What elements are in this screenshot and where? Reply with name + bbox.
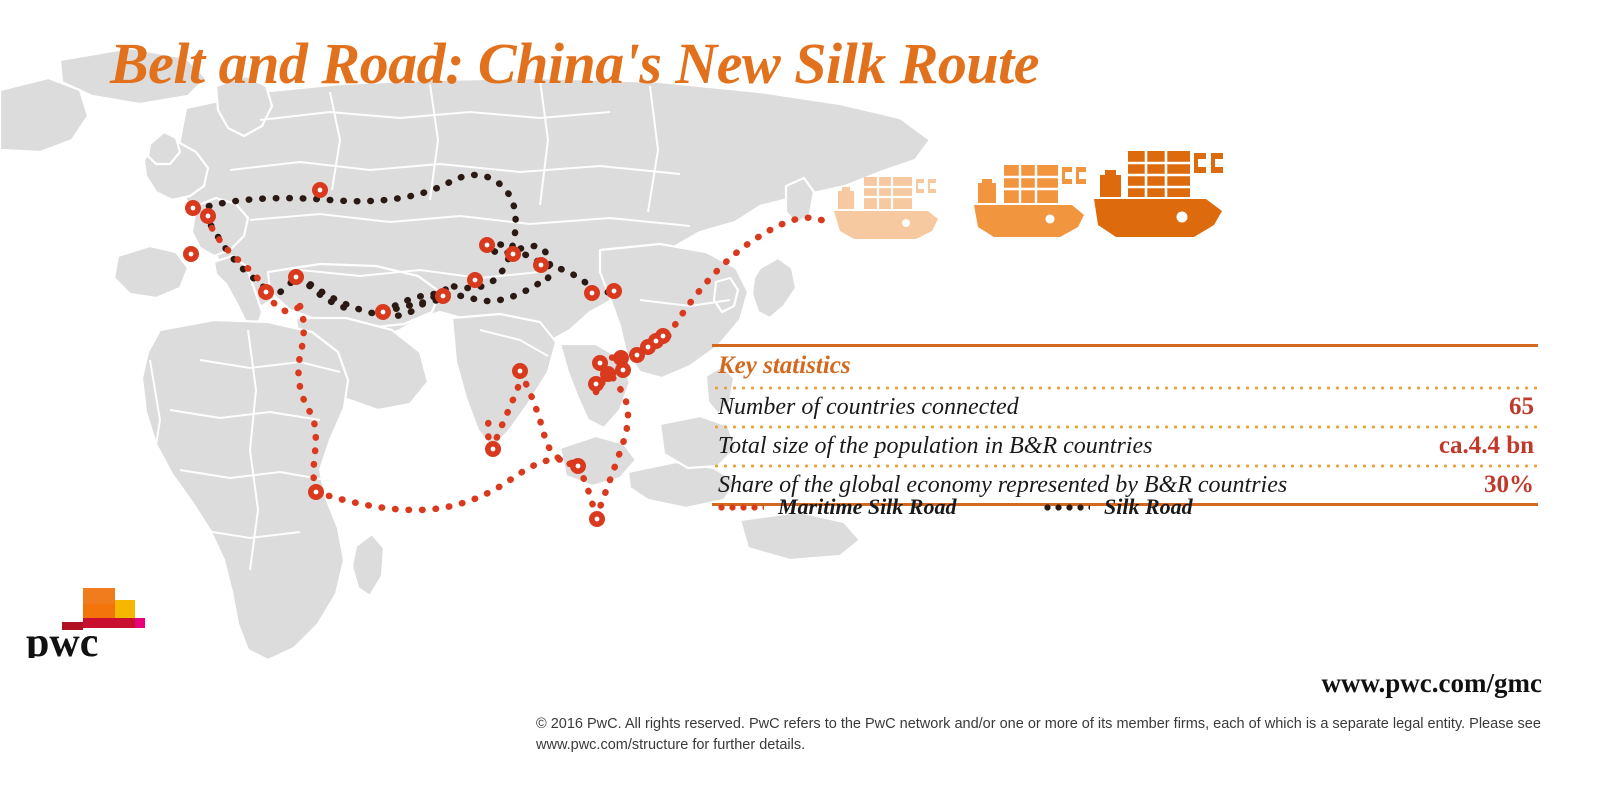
key-statistics-panel: Key statistics Number of countries conne… <box>712 344 1538 506</box>
stat-label: Total size of the population in B&R coun… <box>718 433 1152 460</box>
stat-label: Number of countries connected <box>718 394 1019 421</box>
legend-item-maritime: Maritime Silk Road <box>716 494 956 520</box>
ship-large-icon <box>1094 151 1223 237</box>
legend-label: Silk Road <box>1104 494 1193 520</box>
table-row: Number of countries connected 65 <box>712 390 1538 425</box>
website-url[interactable]: www.pwc.com/gmc <box>1322 668 1542 699</box>
map-legend: Maritime Silk Road Silk Road <box>712 494 1542 524</box>
ship-medium-icon <box>974 165 1086 237</box>
page-title: Belt and Road: China's New Silk Route <box>110 30 1039 97</box>
infographic-canvas: Belt and Road: China's New Silk Route <box>0 0 1600 800</box>
pwc-wordmark: pwc <box>26 620 98 658</box>
table-row: Total size of the population in B&R coun… <box>712 429 1538 464</box>
legal-disclaimer: © 2016 PwC. All rights reserved. PwC ref… <box>536 714 1546 756</box>
maritime-route-swatch-icon <box>716 504 764 511</box>
stat-value: ca.4.4 bn <box>1419 432 1534 460</box>
maritime-east-africa-leg <box>316 459 578 510</box>
legend-label: Maritime Silk Road <box>778 494 956 520</box>
ship-small-icon <box>834 177 938 239</box>
stat-value: 65 <box>1489 393 1534 421</box>
silk-road-swatch-icon <box>1042 504 1090 511</box>
container-ship-icons <box>820 145 1240 255</box>
pwc-logo: pwc <box>26 586 156 658</box>
panel-heading: Key statistics <box>712 347 1538 386</box>
legend-item-silk-road: Silk Road <box>1042 494 1193 520</box>
